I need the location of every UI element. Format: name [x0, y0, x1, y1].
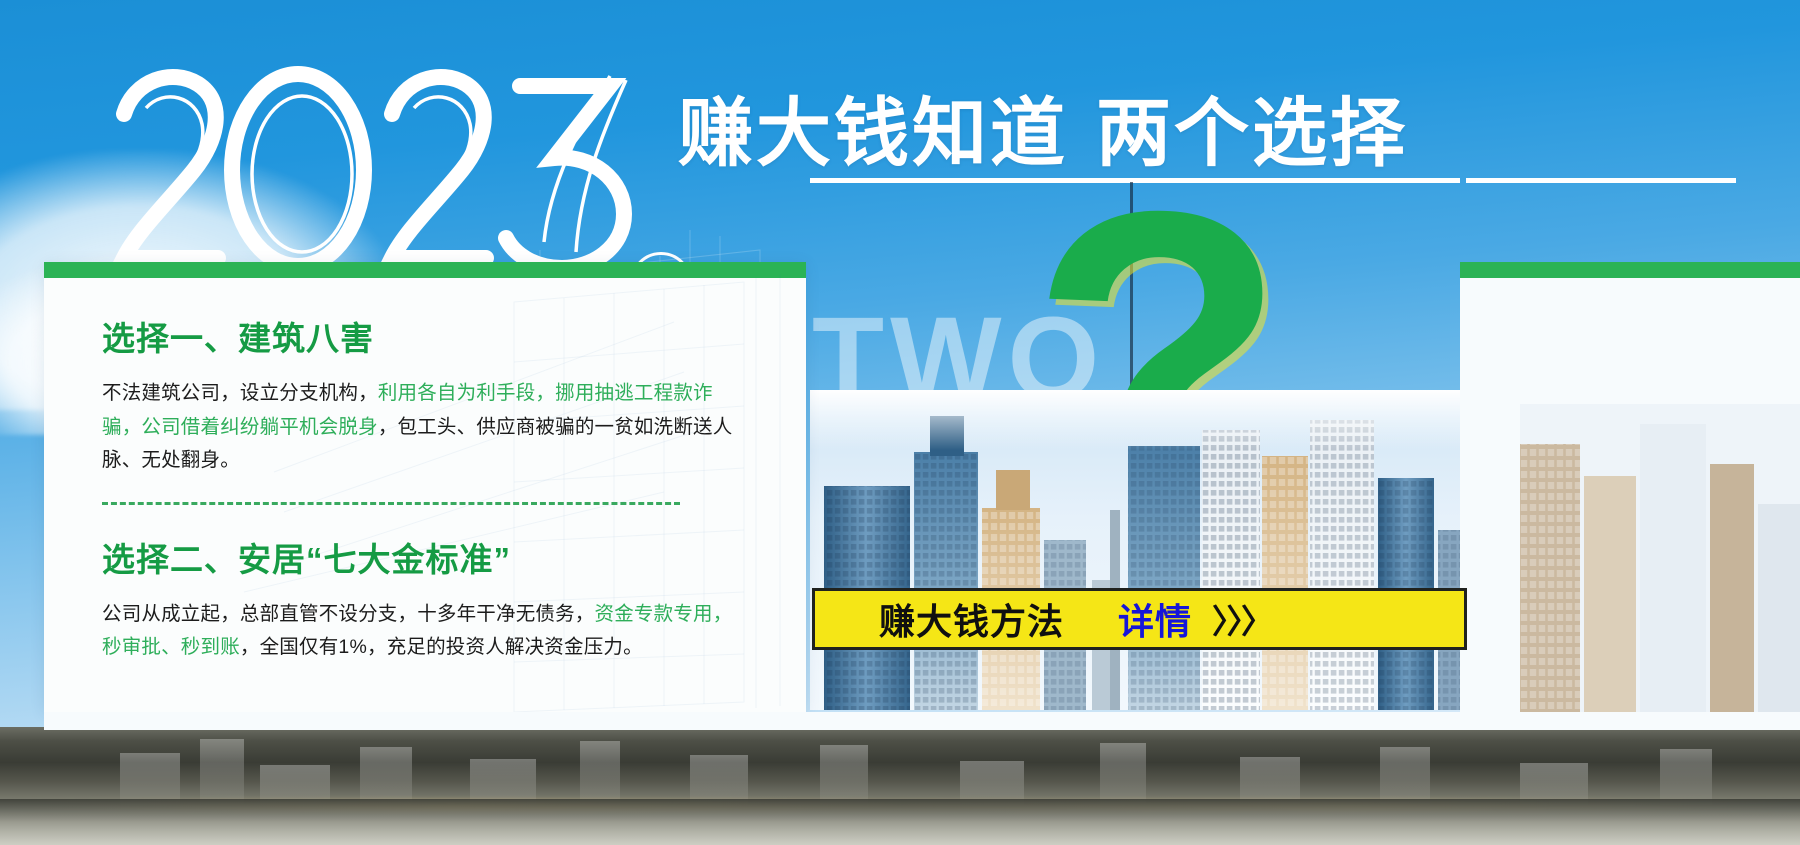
cta-main-label: 赚大钱方法	[879, 593, 1064, 645]
cta-details-link[interactable]: 详情	[1118, 593, 1192, 645]
section-1-title: 选择一、建筑八害	[102, 312, 748, 360]
section-2-body: 公司从成立起，总部直管不设分支，十多年干净无债务，资金专款专用，秒审批、秒到账，…	[102, 598, 748, 665]
section-2-title: 选择二、安居“七大金标准”	[102, 533, 748, 581]
year-graphic: 年	[110, 62, 710, 277]
promo-banner: 年 赚大钱知道两个选择 TWO CHOICES ?	[0, 0, 1800, 845]
bottom-night-city-strip	[0, 727, 1800, 845]
headline-underline-right	[1466, 178, 1736, 183]
right-cityscape-slice	[1520, 404, 1800, 712]
section-1-text-a: 不法建筑公司，设立分支机构，	[102, 382, 378, 404]
card-section-2: 选择二、安居“七大金标准” 公司从成立起，总部直管不设分支，十多年干净无债务，资…	[102, 533, 748, 665]
headline-part-1: 赚大钱知道	[678, 91, 1068, 175]
headline-underline	[810, 178, 1460, 183]
section-2-text-a: 公司从成立起，总部直管不设分支，十多年干净无债务，	[102, 603, 595, 625]
section-divider	[102, 502, 680, 505]
card-section-1: 选择一、建筑八害 不法建筑公司，设立分支机构，利用各自为利手段，挪用抽逃工程款诈…	[102, 312, 748, 478]
chevron-right-icon: 〉〉〉	[1212, 595, 1272, 643]
page-title: 赚大钱知道两个选择	[678, 72, 1408, 181]
lower-white-band	[44, 712, 1800, 730]
section-2-text-c: ，全国仅有1%，充足的投资人解决资金压力。	[240, 636, 643, 658]
right-panel-green-strip	[1460, 262, 1800, 278]
section-1-body: 不法建筑公司，设立分支机构，利用各自为利手段，挪用抽逃工程款诈骗，公司借着纠纷躺…	[102, 377, 748, 478]
cta-bar[interactable]: 赚大钱方法 详情 〉〉〉	[812, 588, 1467, 650]
content-card: 选择一、建筑八害 不法建筑公司，设立分支机构，利用各自为利手段，挪用抽逃工程款诈…	[44, 262, 806, 712]
headline-part-2: 两个选择	[1096, 91, 1408, 175]
